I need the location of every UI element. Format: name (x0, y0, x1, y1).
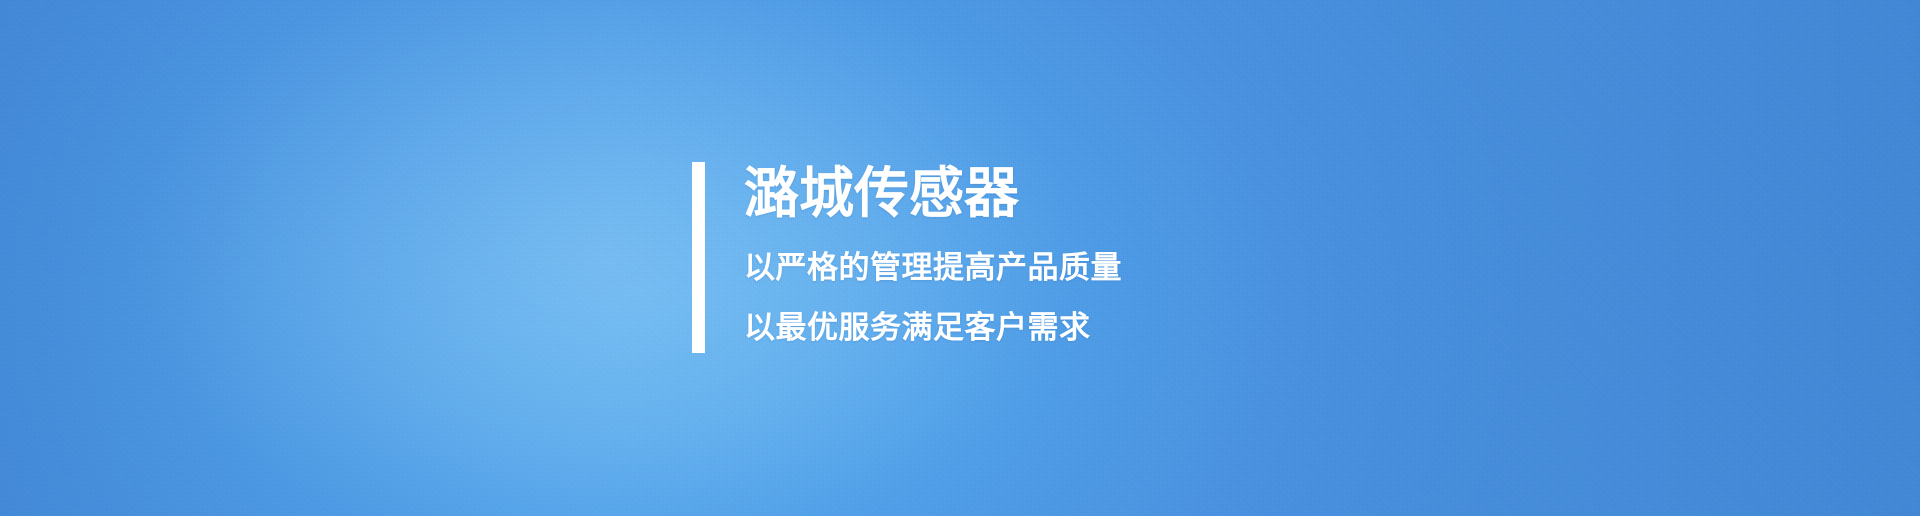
brand-title: 潞城传感器 (744, 162, 1122, 224)
headline-block: 潞城传感器 以严格的管理提高产品质量 以最优服务满足客户需求 (692, 162, 1122, 353)
hero-banner: 潞城传感器 以严格的管理提高产品质量 以最优服务满足客户需求 (0, 0, 1920, 516)
vertical-accent-bar (692, 162, 705, 353)
tagline-quality: 以严格的管理提高产品质量 (744, 250, 1122, 286)
headline-text-group: 潞城传感器 以严格的管理提高产品质量 以最优服务满足客户需求 (705, 162, 1122, 353)
tagline-service: 以最优服务满足客户需求 (744, 310, 1122, 346)
